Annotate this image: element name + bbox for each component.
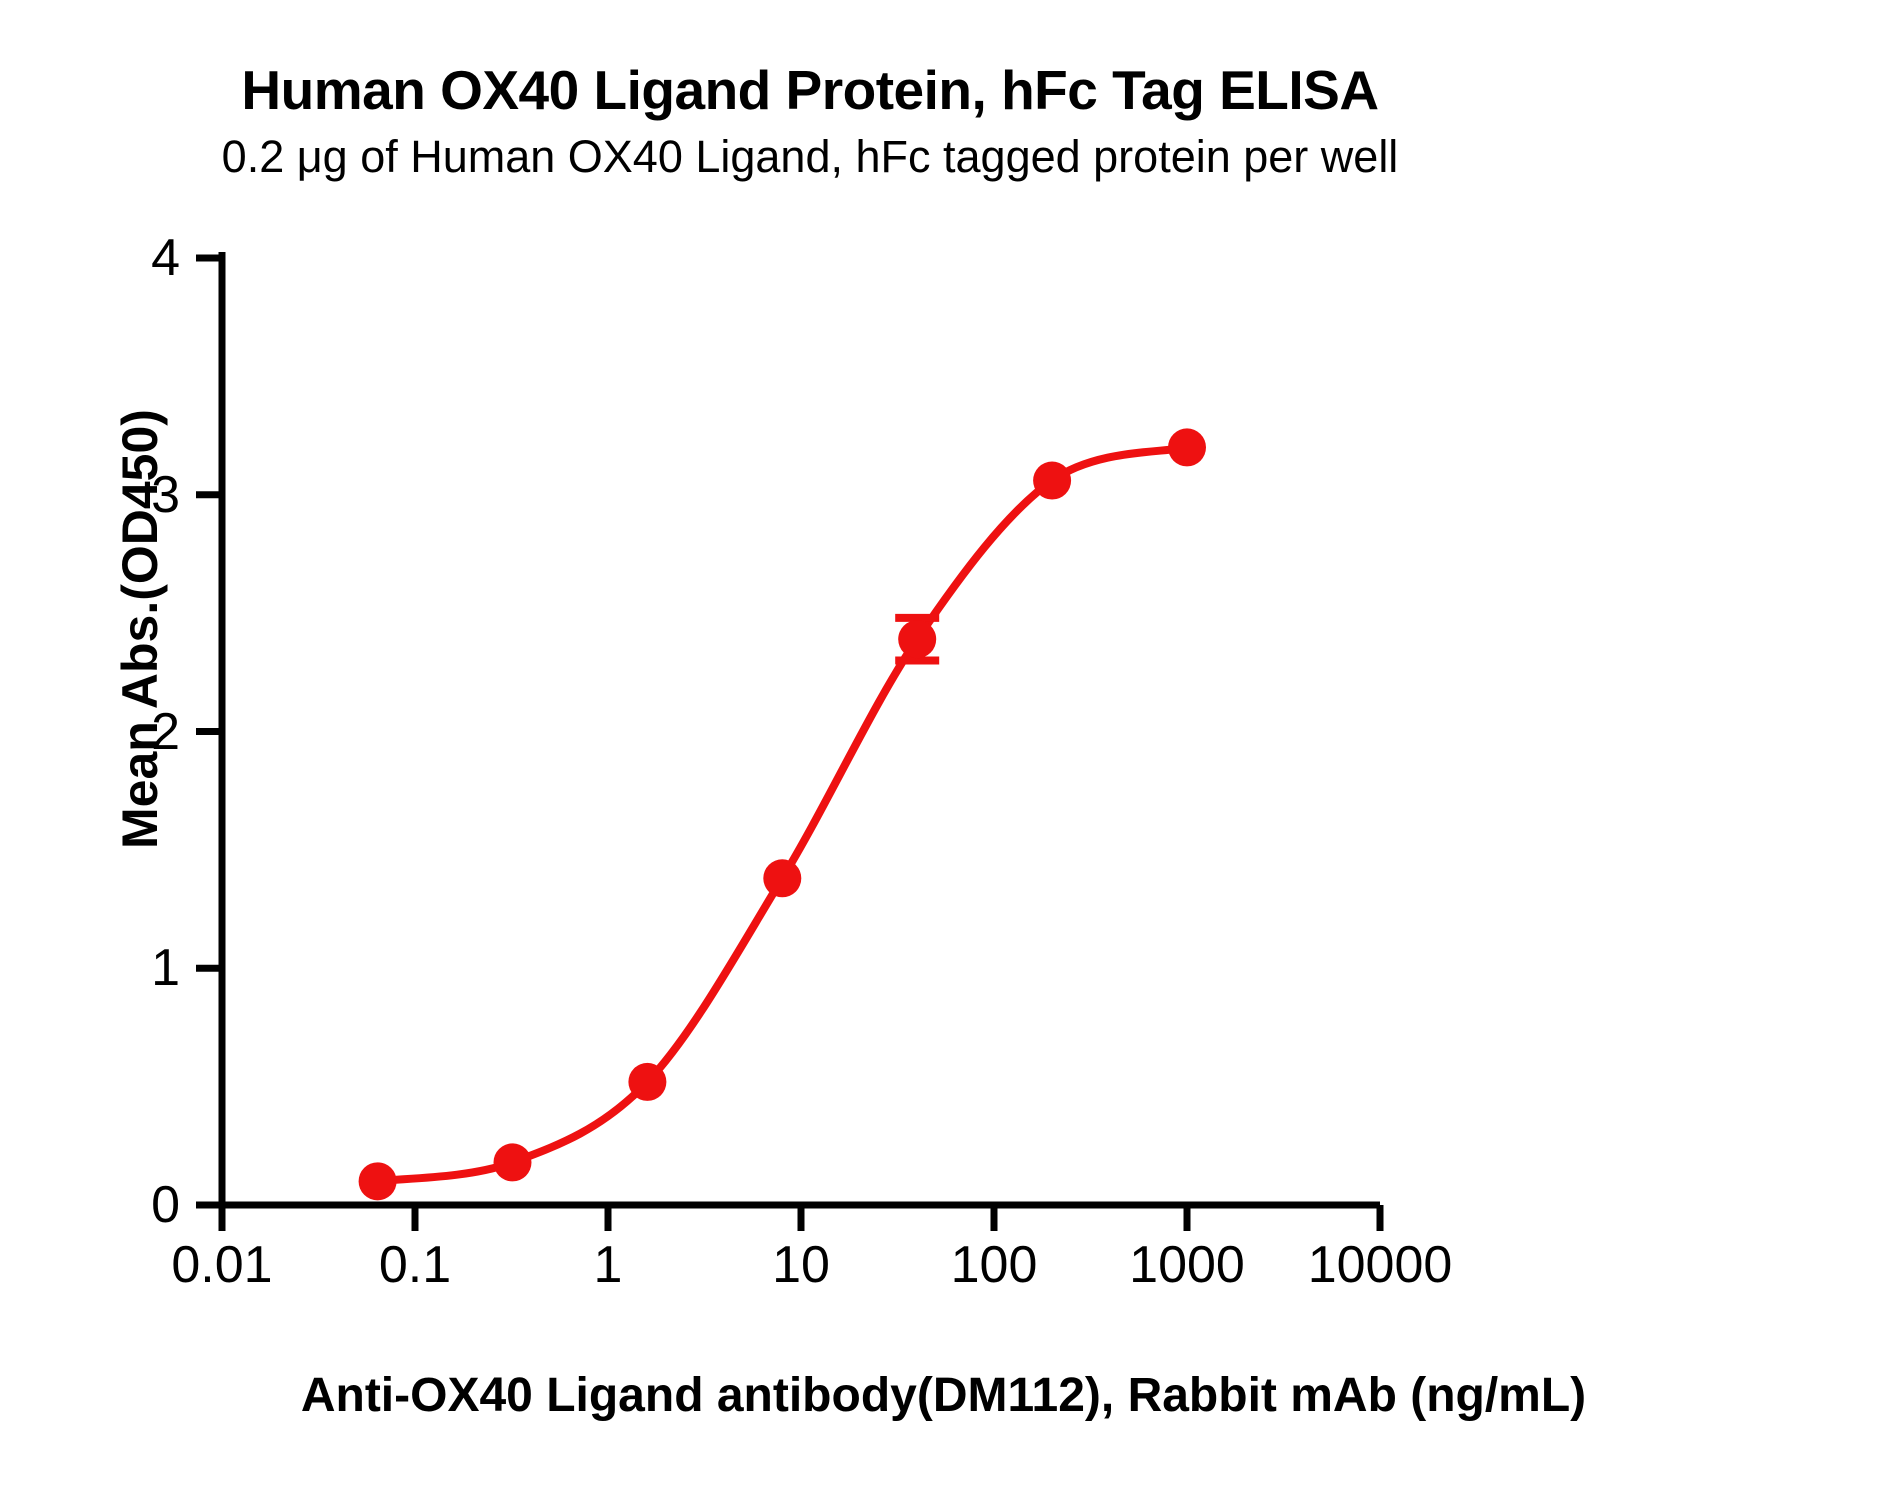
y-tick-label: 0	[60, 1175, 180, 1235]
data-point-marker	[493, 1143, 531, 1181]
data-point-marker	[898, 620, 936, 658]
data-point-marker	[359, 1162, 397, 1200]
x-tick-label: 10000	[1250, 1235, 1510, 1295]
y-tick-label: 3	[60, 465, 180, 525]
series-curve	[378, 447, 1187, 1181]
y-tick-label: 2	[60, 702, 180, 762]
data-point-marker	[628, 1063, 666, 1101]
data-point-marker	[1168, 428, 1206, 466]
data-point-marker	[1033, 462, 1071, 500]
elisa-chart-figure: Human OX40 Ligand Protein, hFc Tag ELISA…	[0, 0, 1887, 1495]
y-tick-label: 1	[60, 938, 180, 998]
data-point-marker	[763, 859, 801, 897]
y-tick-label: 4	[60, 228, 180, 288]
